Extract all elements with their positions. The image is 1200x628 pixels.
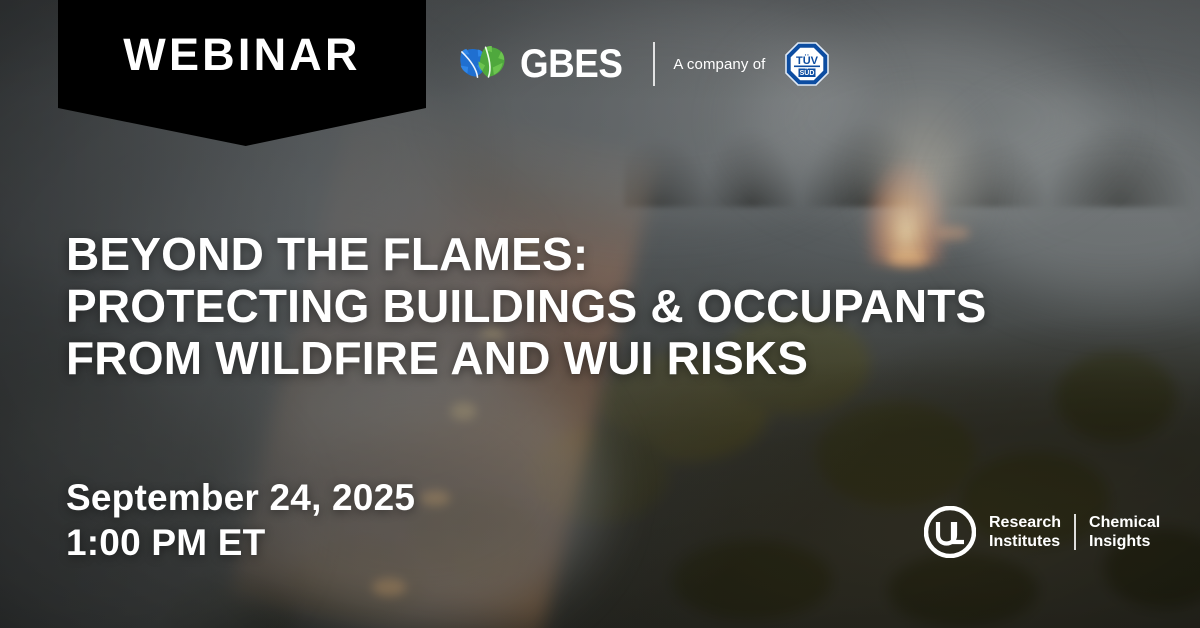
ul-org-name: Research Institutes — [989, 513, 1061, 551]
webinar-promo-graphic: WEBINAR — [0, 0, 1200, 628]
lockup-divider — [653, 42, 655, 86]
webinar-date: September 24, 2025 — [66, 475, 415, 520]
ul-division-line1: Chemical — [1089, 513, 1160, 532]
affiliation-text: A company of — [673, 56, 765, 73]
webinar-title: BEYOND THE FLAMES: PROTECTING BUILDINGS … — [66, 228, 1156, 384]
webinar-time: 1:00 PM ET — [66, 520, 415, 565]
svg-text:TÜV: TÜV — [796, 54, 819, 67]
gbes-leaf-icon — [456, 41, 508, 87]
title-line-1: BEYOND THE FLAMES: — [66, 228, 1156, 280]
ul-org-name-line2: Institutes — [989, 532, 1061, 551]
title-line-3: FROM WILDFIRE AND WUI RISKS — [66, 332, 1156, 384]
tuv-sud-icon: TÜV SÜD — [785, 42, 829, 86]
webinar-schedule: September 24, 2025 1:00 PM ET — [66, 475, 415, 565]
ul-org-name-line1: Research — [989, 513, 1061, 532]
ul-division-name: Chemical Insights — [1089, 513, 1160, 551]
ul-division-line2: Insights — [1089, 532, 1160, 551]
gbes-wordmark: GBES — [520, 44, 622, 84]
title-line-2: PROTECTING BUILDINGS & OCCUPANTS — [66, 280, 1156, 332]
ul-circle-icon — [924, 506, 976, 558]
ul-research-institutes-lockup: Research Institutes Chemical Insights — [924, 506, 1160, 558]
webinar-badge-label: WEBINAR — [123, 32, 360, 77]
ul-lockup-divider — [1074, 514, 1076, 550]
svg-text:SÜD: SÜD — [800, 68, 815, 77]
ul-text-lockup: Research Institutes Chemical Insights — [989, 513, 1160, 551]
gbes-brand-lockup: GBES A company of TÜV SÜD — [456, 36, 829, 92]
